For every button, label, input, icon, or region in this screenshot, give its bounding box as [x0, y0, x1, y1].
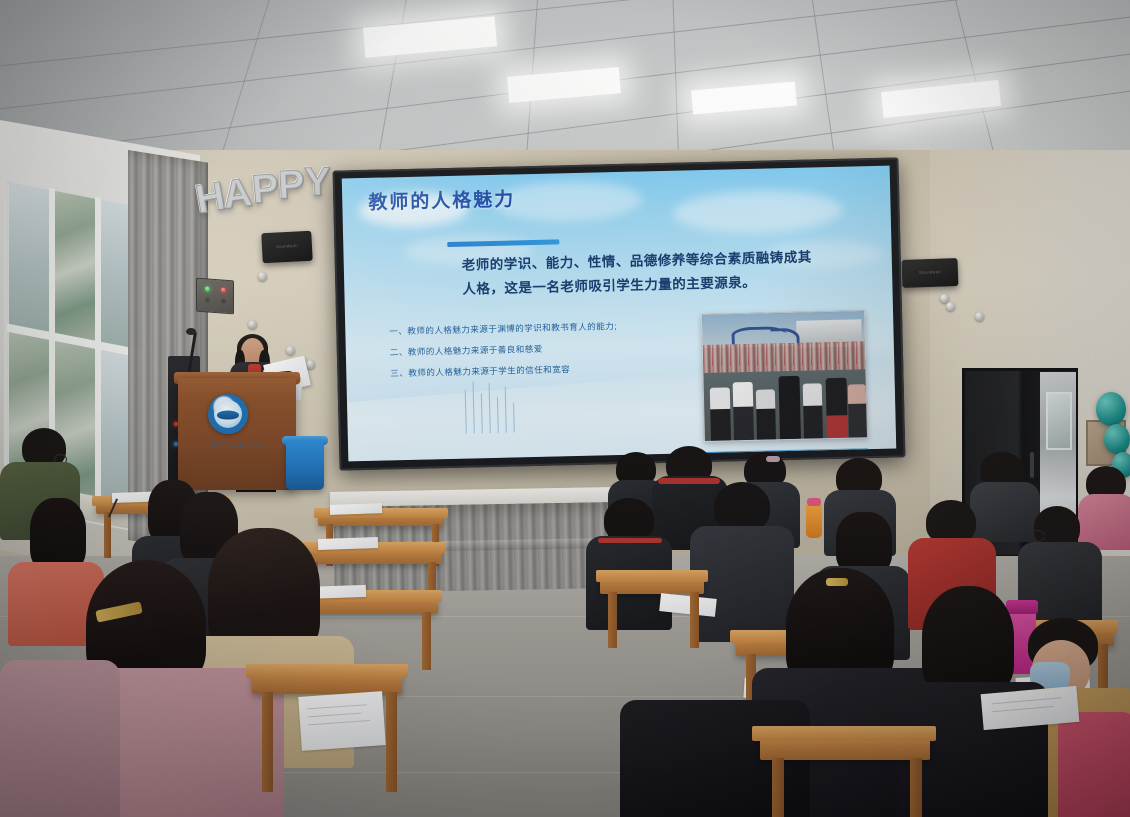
balloon-teal-2 — [1104, 424, 1130, 454]
blue-stool — [286, 440, 324, 490]
balloon-letter-p1: P — [250, 166, 281, 213]
wall-speaker-left: Soundwell — [261, 231, 313, 264]
desk-top — [752, 726, 936, 741]
led-dim-2 — [221, 298, 226, 303]
audience-hairclip — [766, 456, 780, 462]
bottle-cap — [807, 498, 821, 506]
desk-leg — [262, 692, 273, 792]
slide-body-text: 老师的学识、能力、性情、品德修养等综合素质融铸成其人格，这是一名老师吸引学生力量… — [462, 245, 813, 300]
desk-top — [596, 570, 708, 582]
wall-speaker-right: Soundwell — [902, 258, 959, 288]
wall-hook-icon-3 — [306, 360, 315, 369]
audience-hair — [714, 482, 770, 532]
audience-hair — [836, 512, 892, 574]
desk-leg — [386, 692, 397, 792]
slide-photo-marcher — [756, 389, 777, 440]
desk-leg — [608, 592, 617, 648]
water-bottle-orange — [806, 504, 822, 538]
classroom-photo: Soundwell H A P P Y — [0, 0, 1130, 817]
desk-leg — [422, 612, 431, 670]
audience-red-trim — [598, 538, 662, 543]
microphone-icon — [186, 328, 196, 335]
audience-glasses — [1030, 530, 1045, 542]
happy-balloon-letters: H A P P Y — [196, 160, 336, 212]
wall-control-panel[interactable] — [196, 278, 234, 315]
slide-photo-marcher — [778, 376, 801, 439]
slide-photo-marching-teachers — [701, 310, 868, 442]
desk-leg — [690, 592, 699, 648]
podium-front-text: 教师发展中心 — [186, 440, 290, 449]
wall-hook-icon-2 — [286, 346, 295, 355]
led-dim-1 — [205, 297, 210, 302]
balloon-letter-y: Y — [304, 160, 331, 205]
slide-photo-marcher — [733, 382, 754, 440]
desk-paper — [318, 537, 378, 550]
audience-hair — [922, 586, 1014, 696]
audience-torso — [1058, 712, 1130, 817]
slide-photo-marcher — [848, 384, 867, 437]
bottle-cap-pink — [1006, 600, 1038, 614]
speaker-brand-label-right: Soundwell — [919, 269, 941, 275]
balloon-teal-1 — [1096, 392, 1126, 426]
led-green-indicator — [205, 286, 210, 291]
speaker-brand-label: Soundwell — [276, 243, 298, 249]
slide-bullet-list: 一、教师的人格魅力来源于渊博的学识和教书育人的能力; 二、教师的人格魅力来源于善… — [389, 315, 680, 385]
balloon-letter-p2: P — [277, 162, 306, 208]
school-crest-icon — [208, 394, 248, 434]
wall-hook-icon-1 — [258, 272, 267, 281]
audience-red-collar — [658, 478, 720, 484]
slide-canvas: 教师的人格魅力 老师的学识、能力、性情、品德修养等综合素质融铸成其人格，这是一名… — [342, 166, 897, 462]
audience-hair — [30, 498, 86, 572]
podium: 教师发展中心 — [178, 378, 296, 490]
audience-torso — [0, 660, 120, 817]
led-red-indicator — [221, 287, 226, 292]
slide-photo-marcher — [802, 383, 823, 439]
school-crest-mark — [217, 410, 239, 419]
desk-leg — [104, 512, 111, 558]
door-handle[interactable] — [1030, 452, 1034, 478]
desk-paper — [298, 691, 386, 751]
desk-leg — [772, 758, 784, 817]
desk-leg — [910, 758, 922, 817]
audience-hair-tie — [826, 578, 848, 586]
slide-photo-crowd — [703, 341, 866, 373]
wall-hook-icon-6 — [946, 302, 955, 311]
corridor-window — [1046, 392, 1072, 450]
balloon-letter-a: A — [220, 170, 254, 218]
audience-torso — [690, 526, 794, 642]
desk-top — [246, 664, 408, 678]
slide-photo-marcher — [825, 377, 847, 438]
projection-screen: 教师的人格魅力 老师的学识、能力、性情、品德修养等综合素质融铸成其人格，这是一名… — [333, 157, 906, 470]
slide-title: 教师的人格魅力 — [368, 184, 516, 214]
wall-hook-icon-7 — [975, 312, 984, 321]
wall-hook-icon-4 — [248, 320, 257, 329]
desk-paper — [330, 503, 382, 515]
slide-photo-marcher — [710, 388, 731, 441]
